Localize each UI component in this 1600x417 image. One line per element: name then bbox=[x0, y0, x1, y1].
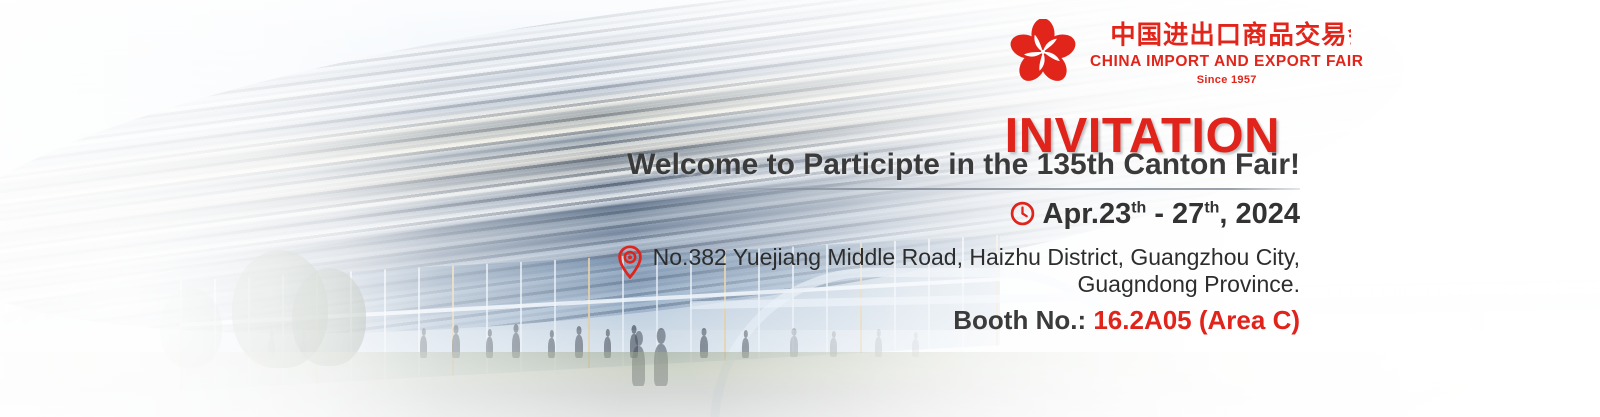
booth-number-row: Booth No.: 16.2A05 (Area C) bbox=[953, 307, 1300, 333]
venue-address-row: No.382 Yuejiang Middle Road, Haizhu Dist… bbox=[616, 244, 1300, 298]
booth-label: Booth No.: bbox=[953, 305, 1093, 335]
welcome-subtitle: Welcome to Participte in the 135th Canto… bbox=[627, 150, 1300, 180]
five-petal-flower-icon bbox=[1010, 19, 1076, 85]
booth-value: 16.2A05 (Area C) bbox=[1093, 305, 1300, 335]
logo-chinese-name: 中国进出口商品交易会 bbox=[1103, 18, 1351, 50]
canton-fair-logo: 中国进出口商品交易会 CHINA IMPORT AND EXPORT FAIR … bbox=[1010, 18, 1363, 86]
date-end-suffix: th bbox=[1204, 199, 1219, 216]
date-end-day: 27 bbox=[1172, 198, 1204, 230]
date-start-suffix: th bbox=[1131, 199, 1146, 216]
logo-since-text: Since 1957 bbox=[1197, 75, 1257, 86]
date-start-day: 23 bbox=[1099, 198, 1131, 230]
date-separator: - bbox=[1146, 198, 1172, 230]
subtitle-divider bbox=[717, 188, 1300, 190]
svg-text:中国进出口商品交易会: 中国进出口商品交易会 bbox=[1110, 19, 1351, 49]
logo-english-name: CHINA IMPORT AND EXPORT FAIR bbox=[1090, 54, 1363, 70]
event-date-text: Apr.23th - 27th, 2024 bbox=[1043, 200, 1300, 229]
address-line-2: Guagndong Province. bbox=[1078, 271, 1301, 297]
canton-fair-invitation-banner: 中国进出口商品交易会 CHINA IMPORT AND EXPORT FAIR … bbox=[0, 0, 1600, 417]
date-year: , 2024 bbox=[1219, 198, 1300, 230]
clock-icon bbox=[1010, 201, 1035, 226]
event-date-row: Apr.23th - 27th, 2024 bbox=[1010, 200, 1300, 229]
map-pin-icon bbox=[616, 245, 644, 279]
address-line-1: No.382 Yuejiang Middle Road, Haizhu Dist… bbox=[653, 244, 1300, 270]
date-month: Apr. bbox=[1043, 198, 1099, 230]
venue-address-text: No.382 Yuejiang Middle Road, Haizhu Dist… bbox=[653, 244, 1300, 298]
